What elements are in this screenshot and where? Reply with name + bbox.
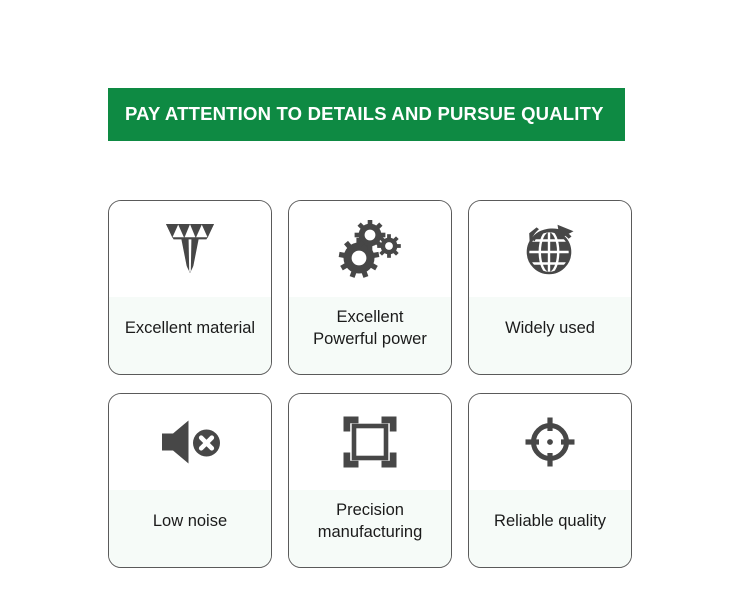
- feature-card-reliable-quality[interactable]: Reliable quality: [468, 393, 632, 568]
- globe-arrow-icon: [521, 221, 579, 277]
- feature-card-widely-used[interactable]: Widely used: [468, 200, 632, 375]
- card-icon-zone: [109, 201, 271, 297]
- section-banner: PAY ATTENTION TO DETAILS AND PURSUE QUAL…: [108, 88, 625, 141]
- card-icon-zone: [289, 201, 451, 297]
- card-label-zone: Excellent Powerful power: [289, 297, 451, 374]
- feature-card-precision-manufacturing[interactable]: Precision manufacturing: [288, 393, 452, 568]
- page-title: PAY ATTENTION TO DETAILS AND PURSUE QUAL…: [125, 105, 604, 124]
- crop-frame-icon: [342, 415, 398, 469]
- gears-icon: [338, 220, 402, 278]
- feature-label: Excellent Powerful power: [313, 307, 427, 349]
- card-icon-zone: [469, 201, 631, 297]
- feature-label: Reliable quality: [494, 511, 606, 532]
- feature-card-excellent-material[interactable]: Excellent material: [108, 200, 272, 375]
- crosshair-target-icon: [522, 415, 578, 469]
- feature-card-low-noise[interactable]: Low noise: [108, 393, 272, 568]
- card-icon-zone: [109, 394, 271, 490]
- card-label-zone: Widely used: [469, 297, 631, 374]
- card-icon-zone: [289, 394, 451, 490]
- diamond-icon: [159, 221, 221, 277]
- card-label-zone: Reliable quality: [469, 490, 631, 567]
- feature-label: Precision manufacturing: [318, 500, 423, 542]
- feature-label: Widely used: [505, 318, 595, 339]
- speaker-mute-icon: [158, 418, 222, 466]
- card-label-zone: Precision manufacturing: [289, 490, 451, 567]
- card-label-zone: Low noise: [109, 490, 271, 567]
- feature-label: Excellent material: [125, 318, 255, 339]
- card-icon-zone: [469, 394, 631, 490]
- feature-label: Low noise: [153, 511, 227, 532]
- card-label-zone: Excellent material: [109, 297, 271, 374]
- feature-card-grid: Excellent material: [108, 200, 632, 568]
- feature-card-powerful-power[interactable]: Excellent Powerful power: [288, 200, 452, 375]
